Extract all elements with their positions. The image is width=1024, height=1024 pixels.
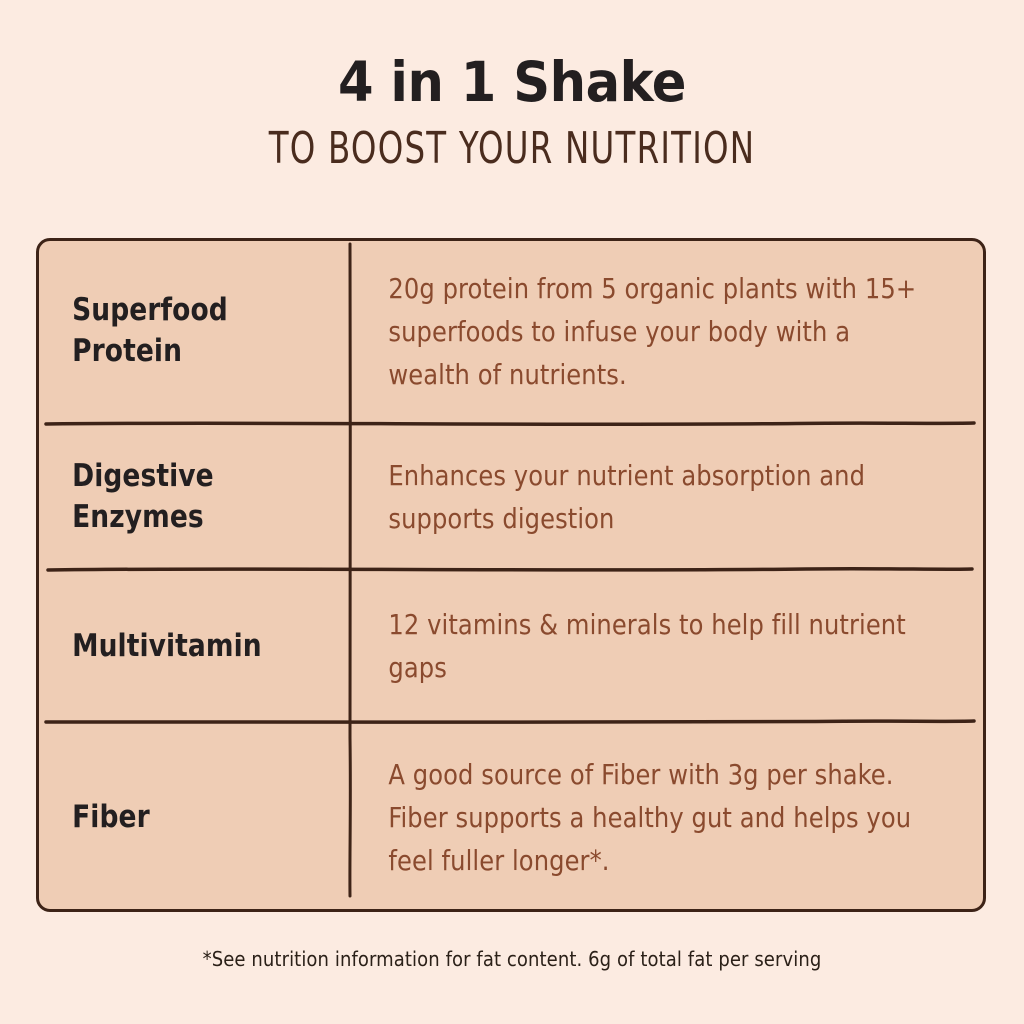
row-description-multivitamin: 12 vitamins & minerals to help fill nutr… bbox=[350, 603, 961, 689]
table-rows: Superfood Protein 20g protein from 5 org… bbox=[36, 238, 986, 912]
row-label-fiber: Fiber bbox=[36, 797, 334, 838]
row-label-line: Digestive bbox=[72, 456, 325, 497]
row-label-superfood-protein: Superfood Protein bbox=[36, 290, 334, 372]
row-description-digestive-enzymes: Enhances your nutrient absorption and su… bbox=[350, 454, 961, 540]
row-label-line: Superfood bbox=[72, 290, 325, 331]
header: 4 in 1 Shake TO BOOST YOUR NUTRiTION bbox=[0, 52, 1024, 174]
row-label-digestive-enzymes: Digestive Enzymes bbox=[36, 456, 334, 538]
row-description-fiber: A good source of Fiber with 3g per shake… bbox=[350, 753, 961, 882]
table-row: Fiber A good source of Fiber with 3g per… bbox=[36, 722, 986, 912]
page-subtitle: TO BOOST YOUR NUTRiTION bbox=[92, 124, 932, 174]
row-label-line: Fiber bbox=[72, 797, 325, 838]
row-label-line: Multivitamin bbox=[72, 626, 325, 667]
row-description-superfood-protein: 20g protein from 5 organic plants with 1… bbox=[350, 267, 961, 396]
infographic-page: 4 in 1 Shake TO BOOST YOUR NUTRiTION Sup… bbox=[0, 0, 1024, 1024]
row-label-multivitamin: Multivitamin bbox=[36, 626, 334, 667]
table-row: Multivitamin 12 vitamins & minerals to h… bbox=[36, 570, 986, 722]
row-label-line: Protein bbox=[72, 331, 325, 372]
benefits-table: Superfood Protein 20g protein from 5 org… bbox=[36, 238, 986, 912]
footnote: *See nutrition information for fat conte… bbox=[0, 946, 1024, 972]
row-label-line: Enzymes bbox=[72, 497, 325, 538]
table-row: Digestive Enzymes Enhances your nutrient… bbox=[36, 424, 986, 570]
table-row: Superfood Protein 20g protein from 5 org… bbox=[36, 238, 986, 424]
page-title: 4 in 1 Shake bbox=[36, 52, 988, 112]
